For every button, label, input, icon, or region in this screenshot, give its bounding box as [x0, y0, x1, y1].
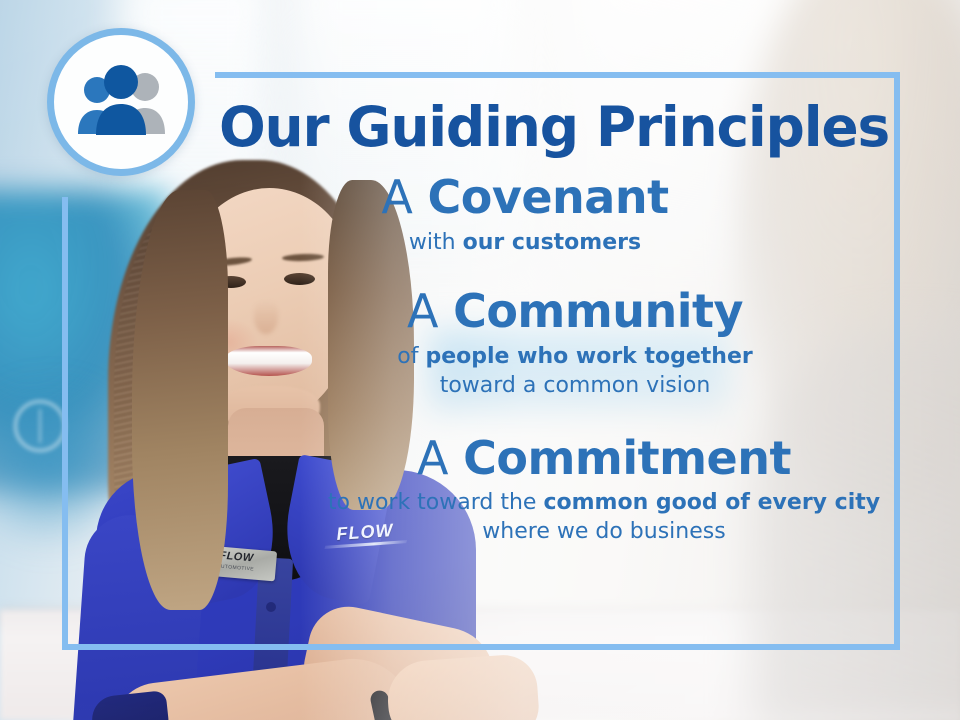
principle-community: A Community of people who work together …	[215, 287, 893, 400]
people-group-icon	[69, 64, 173, 140]
frame-border-bottom	[62, 644, 900, 650]
vehicle-emblem-icon	[14, 400, 66, 452]
principle-1-article: A	[381, 170, 427, 224]
frame-border-left	[62, 197, 68, 650]
principle-3-sub-part-1: to work toward the	[328, 490, 544, 515]
principle-3-title: A Commitment	[315, 434, 893, 483]
principle-3-sub-part-3: where we do business	[482, 519, 725, 544]
principle-2-title: A Community	[257, 287, 893, 336]
principle-1-sub-part-2: our customers	[463, 230, 642, 255]
hair-front-left	[132, 190, 228, 610]
frame-border-right	[894, 72, 900, 650]
text-column: Our Guiding Principles A Covenant with o…	[215, 78, 893, 546]
guiding-principles-poster: FLOW FLOW AUTOMOTIVE	[0, 0, 960, 720]
principle-covenant: A Covenant with our customers	[215, 173, 893, 257]
principle-2-sub-part-1: of	[397, 344, 425, 369]
principle-3-article: A	[417, 431, 463, 485]
principle-2-article: A	[407, 284, 453, 338]
principle-3-subtext: to work toward the common good of every …	[315, 488, 893, 546]
principle-3-keyword: Commitment	[463, 431, 791, 485]
principle-1-subtext: with our customers	[215, 228, 835, 257]
principle-2-subtext: of people who work together toward a com…	[257, 342, 893, 400]
principle-1-keyword: Covenant	[428, 170, 669, 224]
principle-2-keyword: Community	[453, 284, 743, 338]
principle-commitment: A Commitment to work toward the common g…	[215, 434, 893, 547]
principle-2-sub-part-2: people who work together	[425, 344, 752, 369]
shirt-button	[266, 602, 276, 612]
page-title: Our Guiding Principles	[215, 100, 893, 155]
principle-3-sub-part-2: common good of every city	[543, 490, 880, 515]
principle-2-sub-part-3: toward a common vision	[440, 373, 711, 398]
principle-1-sub-part-1: with	[409, 230, 463, 255]
principle-1-title: A Covenant	[215, 173, 835, 222]
people-badge	[47, 28, 195, 176]
